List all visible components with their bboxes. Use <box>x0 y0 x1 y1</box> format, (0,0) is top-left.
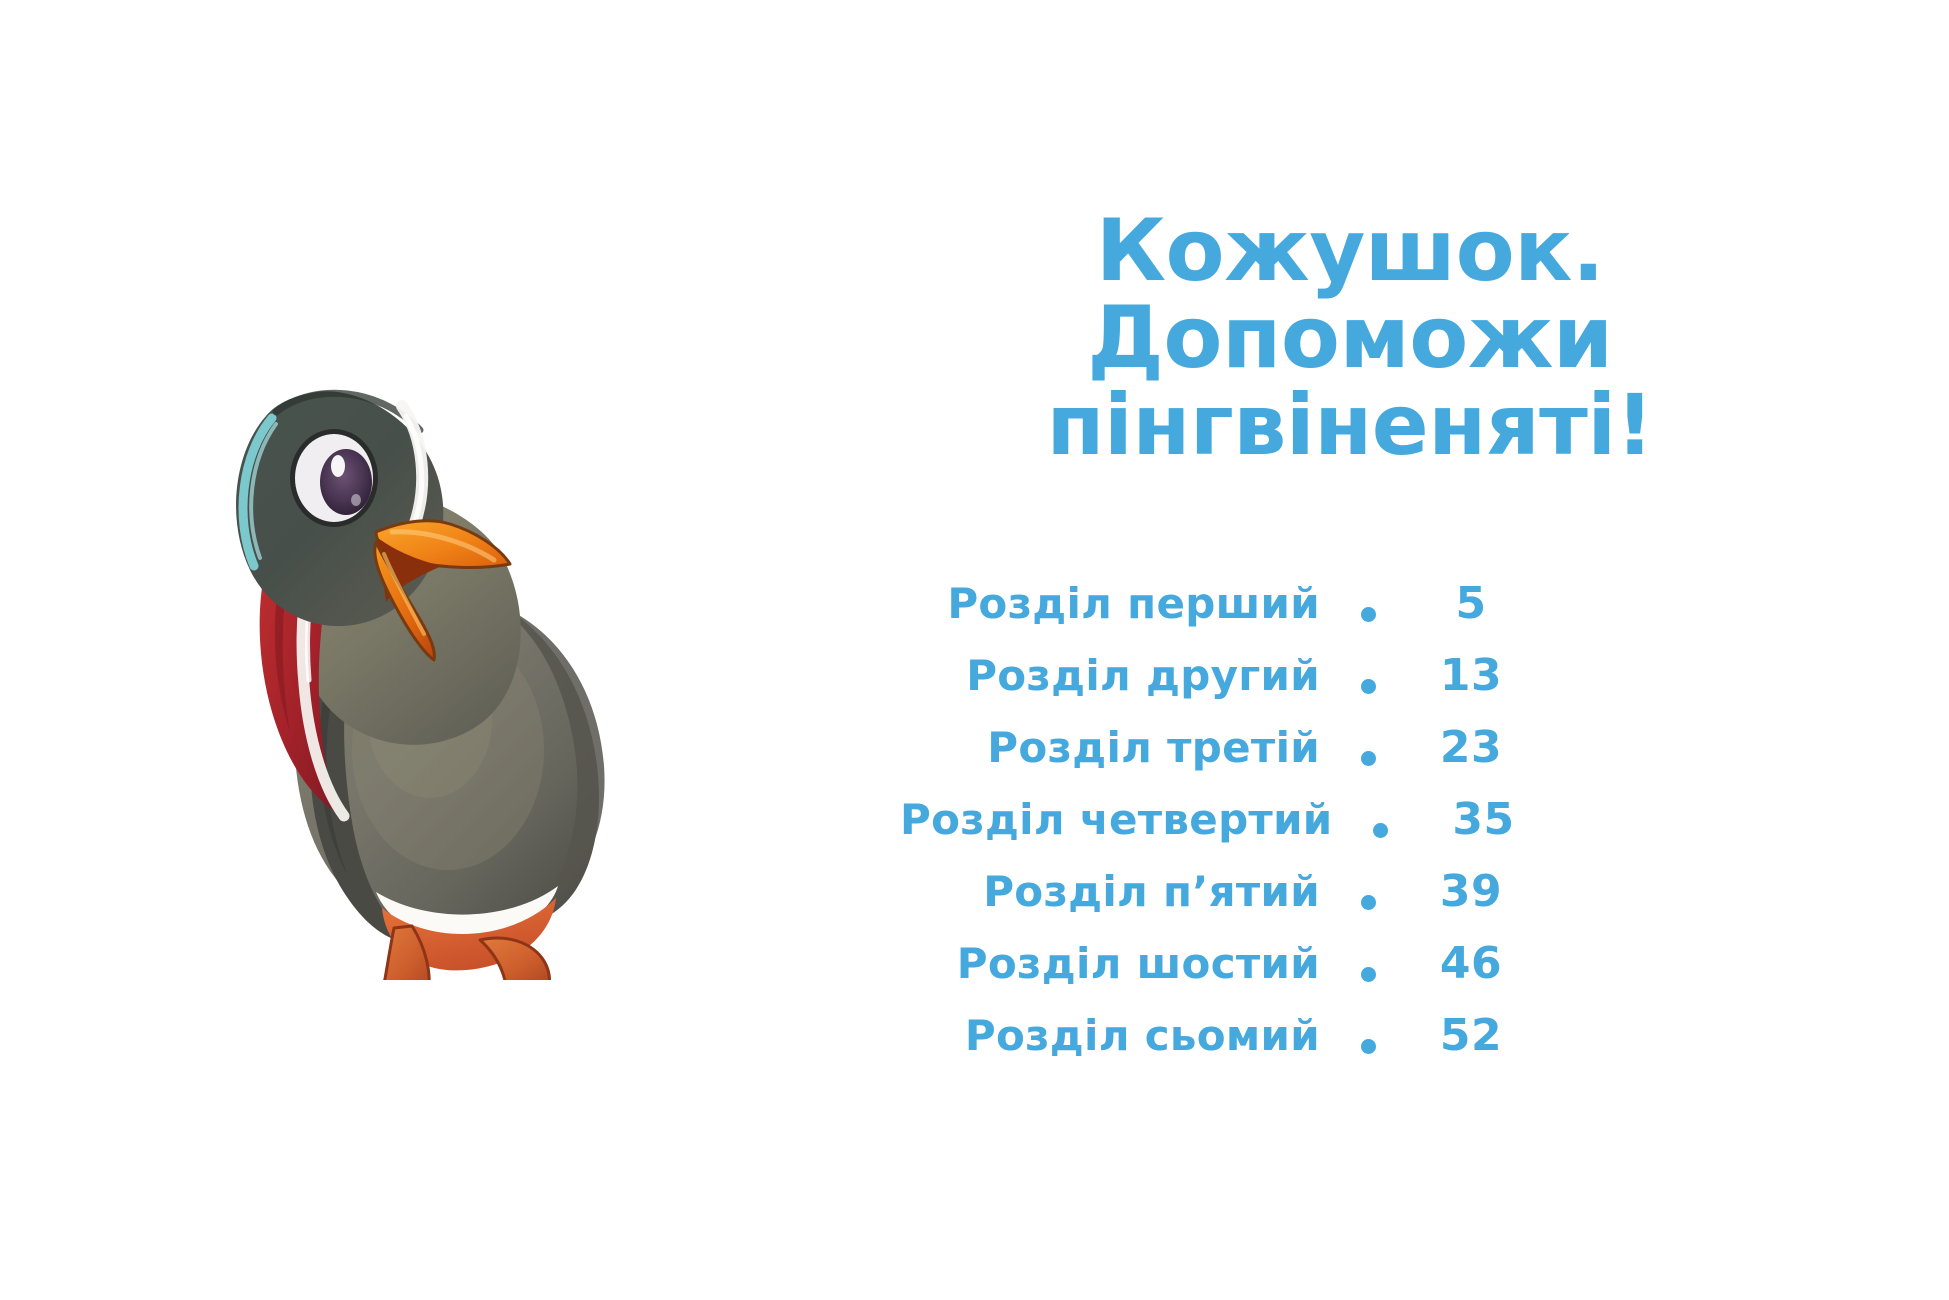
toc-page-number: 46 <box>1416 938 1526 989</box>
toc-row[interactable]: Розділ сьомий 52 <box>900 1010 1800 1082</box>
toc-page-number: 39 <box>1416 866 1526 917</box>
toc-row[interactable]: Розділ перший 5 <box>900 578 1800 650</box>
penguin-head <box>236 391 443 626</box>
toc-row[interactable]: Розділ третій 23 <box>900 722 1800 794</box>
book-title-line-2: Допоможи <box>900 295 1800 383</box>
toc-dot-icon <box>1320 722 1416 794</box>
toc-page-number: 13 <box>1416 650 1526 701</box>
table-of-contents: Розділ перший 5 Розділ другий 13 Розділ … <box>900 578 1800 1082</box>
penguin-eye <box>290 429 378 527</box>
toc-page-number: 52 <box>1416 1010 1526 1061</box>
toc-page-number: 35 <box>1429 794 1539 845</box>
toc-row[interactable]: Розділ другий 13 <box>900 650 1800 722</box>
toc-chapter-label: Розділ сьомий <box>900 1011 1320 1060</box>
toc-dot-icon <box>1320 1010 1416 1082</box>
toc-chapter-label: Розділ п’ятий <box>900 867 1320 916</box>
toc-row[interactable]: Розділ четвертий 35 <box>900 794 1800 866</box>
toc-page-number: 5 <box>1416 578 1526 629</box>
toc-page-number: 23 <box>1416 722 1526 773</box>
toc-row[interactable]: Розділ шостий 46 <box>900 938 1800 1010</box>
toc-chapter-label: Розділ четвертий <box>900 795 1333 844</box>
book-page: Кожушок. Допоможи пінгвіненяті! Розділ п… <box>0 0 1949 1300</box>
toc-dot-icon <box>1320 938 1416 1010</box>
toc-dot-icon <box>1320 650 1416 722</box>
toc-chapter-label: Розділ другий <box>900 651 1320 700</box>
book-title-line-1: Кожушок. <box>900 208 1800 296</box>
text-column: Кожушок. Допоможи пінгвіненяті! Розділ п… <box>900 0 1949 1300</box>
toc-chapter-label: Розділ третій <box>900 723 1320 772</box>
penguin-chick-illustration <box>180 320 700 980</box>
toc-dot-icon <box>1320 866 1416 938</box>
toc-chapter-label: Розділ шостий <box>900 939 1320 988</box>
toc-row[interactable]: Розділ п’ятий 39 <box>900 866 1800 938</box>
book-title: Кожушок. Допоможи пінгвіненяті! <box>900 208 1800 469</box>
toc-dot-icon <box>1320 578 1416 650</box>
toc-dot-icon <box>1333 794 1429 866</box>
toc-chapter-label: Розділ перший <box>900 579 1320 628</box>
book-title-line-3: пінгвіненяті! <box>900 383 1800 469</box>
